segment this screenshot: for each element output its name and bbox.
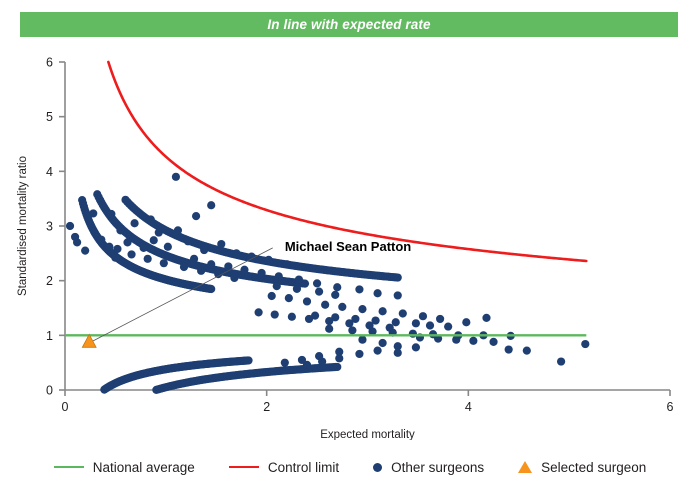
data-point [285,294,293,302]
data-point [140,244,148,252]
legend-dot-swatch [373,463,382,472]
data-point [305,315,313,323]
data-point [105,243,113,251]
data-point [348,326,356,334]
legend-national-average[interactable]: National average [54,460,195,475]
data-point [281,359,289,367]
data-point [345,319,353,327]
data-point [379,339,387,347]
legend-selected-surgeon[interactable]: Selected surgeon [518,460,646,475]
data-point [338,303,346,311]
data-point [452,336,460,344]
data-point [444,322,452,330]
data-point [197,267,205,275]
data-point [273,282,281,290]
data-point [386,324,394,332]
data-point [412,343,420,351]
data-point [394,349,402,357]
data-point [409,330,417,338]
x-tick-label: 4 [465,400,472,414]
data-point [313,279,321,287]
data-point [130,219,138,227]
legend-line-swatch [54,466,84,468]
data-point [355,350,363,358]
data-point [365,321,373,329]
chart-legend: National averageControl limitOther surge… [0,452,700,482]
data-point [190,255,198,263]
data-point [192,212,200,220]
data-point [333,283,341,291]
y-tick-label: 4 [46,165,53,179]
data-point [155,228,163,236]
legend-label: Control limit [268,460,339,475]
data-point [295,275,303,283]
data-point [379,307,387,315]
data-point [97,236,105,244]
data-point [315,288,323,296]
data-point [113,245,121,253]
data-point [81,247,89,255]
data-point [283,260,291,268]
status-banner: In line with expected rate [20,12,678,37]
legend-label: National average [93,460,195,475]
data-point [160,259,168,267]
data-point [505,345,513,353]
data-point [164,243,172,251]
legend-label: Other surgeons [391,460,484,475]
data-point [293,285,301,293]
annotation-label: Michael Sean Patton [285,239,411,254]
y-tick-label: 6 [46,56,53,70]
data-point [180,263,188,271]
data-point [318,357,326,365]
data-point [436,315,444,323]
y-tick-label: 3 [46,220,53,234]
data-point [89,209,97,217]
plot-canvas: 02460123456Expected mortalityStandardise… [0,40,700,440]
data-point [325,317,333,325]
data-point [244,356,252,364]
data-point [255,308,263,316]
data-point [331,291,339,299]
data-point [232,249,240,257]
x-tick-label: 0 [62,400,69,414]
data-point [373,289,381,297]
data-point [247,253,255,261]
data-point [335,354,343,362]
data-point [412,319,420,327]
data-point [557,357,565,365]
data-point [116,226,124,234]
data-point [275,272,283,280]
data-point [303,297,311,305]
y-tick-label: 5 [46,110,53,124]
data-point [240,266,248,274]
data-point [172,173,180,181]
data-point [419,312,427,320]
legend-label: Selected surgeon [541,460,646,475]
legend-control-limit[interactable]: Control limit [229,460,339,475]
data-point [271,310,279,318]
data-point [394,291,402,299]
data-point [469,337,477,345]
data-point [523,347,531,355]
x-tick-label: 2 [263,400,270,414]
data-point [358,305,366,313]
legend-triangle-swatch [518,461,532,473]
y-tick-label: 1 [46,329,53,343]
data-point [426,321,434,329]
data-point [288,313,296,321]
data-point [200,246,208,254]
data-point [230,274,238,282]
data-point [73,238,81,246]
y-tick-label: 2 [46,274,53,288]
data-point [174,226,182,234]
data-point [150,236,158,244]
data-point [184,237,192,245]
data-point [147,215,155,223]
data-point [123,238,131,246]
data-point [358,336,366,344]
y-tick-label: 0 [46,384,53,398]
data-point [207,285,215,293]
data-point [214,270,222,278]
chart-page: In line with expected rate 02460123456Ex… [0,0,700,500]
data-point [217,240,225,248]
data-point [268,292,276,300]
data-point [207,260,215,268]
data-point [107,210,115,218]
data-point [399,309,407,317]
data-point [265,256,273,264]
legend-other-surgeons[interactable]: Other surgeons [373,460,484,475]
data-point [482,314,490,322]
data-point [581,340,589,348]
legend-line-swatch [229,466,259,468]
funnel-bands-group [78,190,402,394]
data-point [258,269,266,277]
data-point [392,318,400,326]
banner-title: In line with expected rate [267,17,430,32]
data-point [355,285,363,293]
data-point [321,301,329,309]
data-point [462,318,470,326]
data-point [394,273,402,281]
data-point [207,201,215,209]
data-point [144,255,152,263]
x-axis-title: Expected mortality [320,429,415,440]
data-point [489,338,497,346]
data-point [325,325,333,333]
funnel-plot-chart: 02460123456Expected mortalityStandardise… [0,40,700,440]
x-tick-label: 6 [667,400,674,414]
data-point [111,254,119,262]
data-point [127,250,135,258]
y-axis-title: Standardised mortality ratio [17,156,29,296]
data-point [303,361,311,369]
data-point [333,363,341,371]
data-point [66,222,74,230]
data-point [373,347,381,355]
